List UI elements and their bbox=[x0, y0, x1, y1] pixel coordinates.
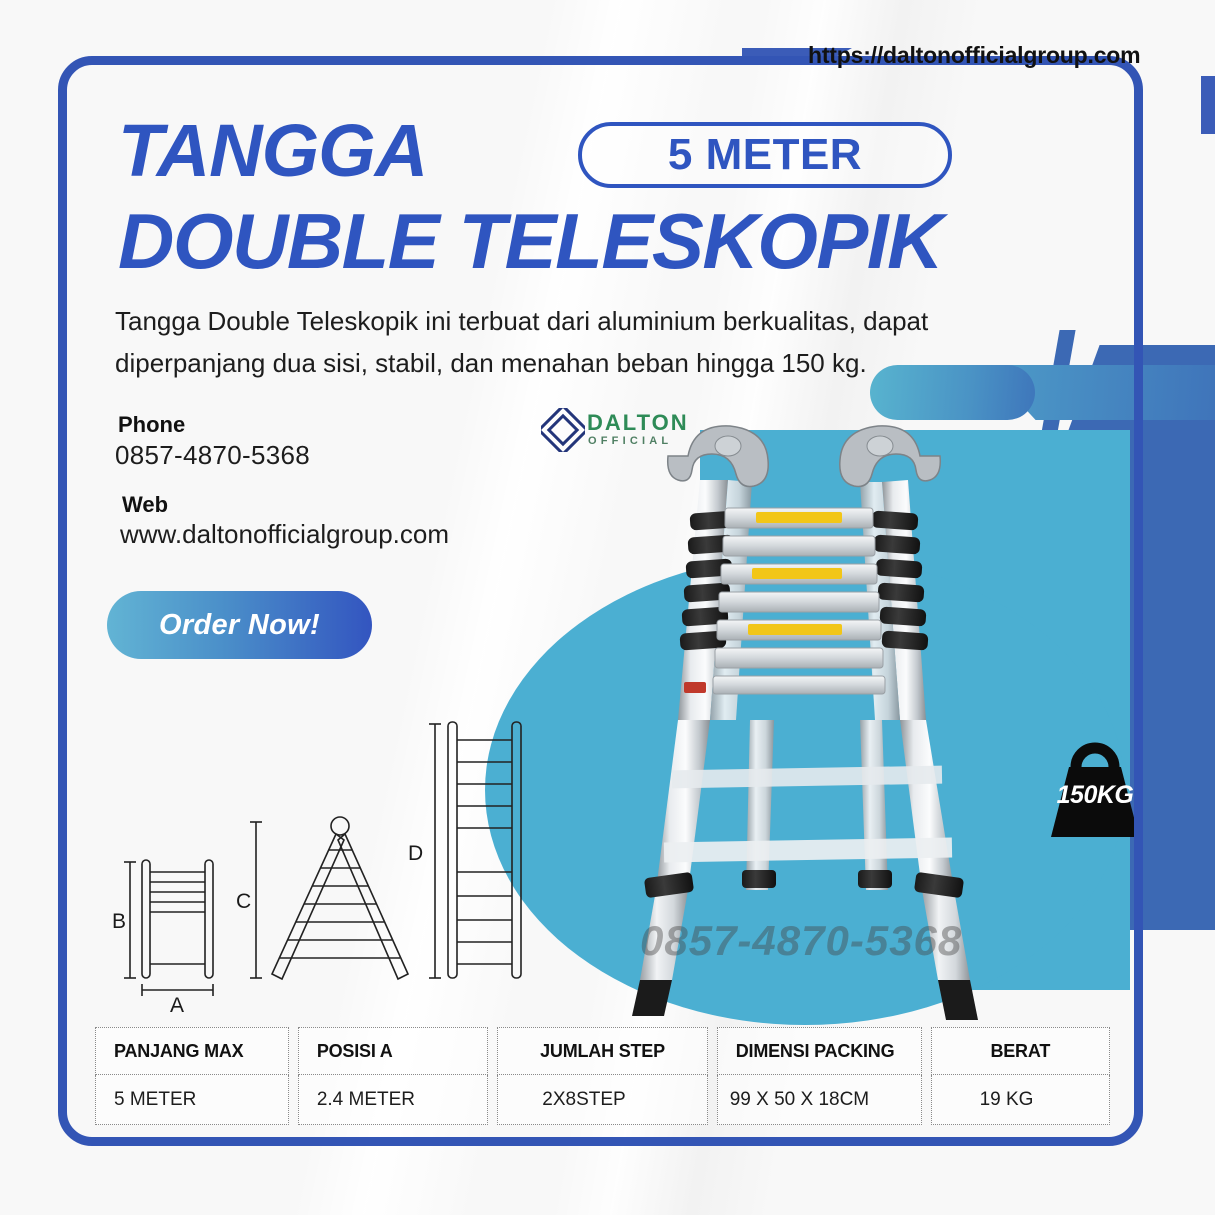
spec-value: 99 X 50 X 18CM bbox=[717, 1075, 922, 1125]
spec-value: 2X8STEP bbox=[497, 1075, 707, 1125]
brand-logo: DALTON OFFICIAL bbox=[541, 404, 681, 466]
ladder-illustration bbox=[560, 420, 1030, 1030]
weight-capacity-badge: 150KG bbox=[1036, 733, 1154, 841]
ladder-hinge-right bbox=[840, 426, 941, 487]
diagram-label-d: D bbox=[408, 842, 423, 865]
page-title-line2: DOUBLE TELESKOPIK bbox=[118, 200, 942, 282]
spec-column: POSISI A 2.4 METER bbox=[298, 1027, 488, 1125]
product-description: Tangga Double Teleskopik ini terbuat dar… bbox=[115, 300, 1040, 384]
spec-header: PANJANG MAX bbox=[95, 1027, 289, 1075]
order-now-label: Order Now! bbox=[159, 609, 320, 642]
order-now-button[interactable]: Order Now! bbox=[107, 591, 372, 659]
spec-column: DIMENSI PACKING 99 X 50 X 18CM bbox=[717, 1027, 922, 1125]
phone-value[interactable]: 0857-4870-5368 bbox=[115, 440, 310, 471]
spec-value: 19 KG bbox=[931, 1075, 1110, 1125]
ladder-steps bbox=[713, 508, 885, 694]
spec-header: POSISI A bbox=[298, 1027, 488, 1075]
product-image-ladder bbox=[560, 420, 1030, 1030]
spec-column: JUMLAH STEP 2X8STEP bbox=[497, 1027, 707, 1125]
dimension-diagram-svg: B A C D bbox=[100, 700, 570, 1020]
specification-table: PANJANG MAX 5 METER POSISI A 2.4 METER J… bbox=[95, 1027, 1110, 1125]
top-right-accent-vertical bbox=[1201, 76, 1215, 134]
spec-header: BERAT bbox=[931, 1027, 1110, 1075]
site-url[interactable]: https://daltonofficialgroup.com bbox=[808, 42, 1140, 69]
poster-canvas: 0857-4870-5368 150KG bbox=[0, 0, 1215, 1215]
weight-badge-label: 150KG bbox=[1036, 781, 1154, 810]
size-badge: 5 METER bbox=[578, 122, 952, 188]
spec-header: DIMENSI PACKING bbox=[717, 1027, 922, 1075]
diagram-label-c: C bbox=[236, 890, 251, 913]
spec-column: BERAT 19 KG bbox=[931, 1027, 1110, 1125]
web-label: Web bbox=[122, 492, 168, 518]
page-title-line1: TANGGA bbox=[118, 114, 427, 188]
web-value[interactable]: www.daltonofficialgroup.com bbox=[120, 519, 449, 550]
dimension-diagram: B A C D bbox=[100, 700, 570, 1020]
logo-name: DALTON bbox=[587, 412, 689, 434]
spec-value: 2.4 METER bbox=[298, 1075, 488, 1125]
phone-label: Phone bbox=[118, 412, 185, 438]
diagram-label-b: B bbox=[112, 910, 126, 933]
spec-value: 5 METER bbox=[95, 1075, 289, 1125]
logo-subtitle: OFFICIAL bbox=[588, 435, 672, 447]
spec-column: PANJANG MAX 5 METER bbox=[95, 1027, 289, 1125]
diagram-label-a: A bbox=[170, 994, 184, 1017]
spec-header: JUMLAH STEP bbox=[497, 1027, 707, 1075]
dalton-diamond-icon bbox=[541, 408, 585, 452]
size-badge-label: 5 METER bbox=[668, 130, 862, 180]
